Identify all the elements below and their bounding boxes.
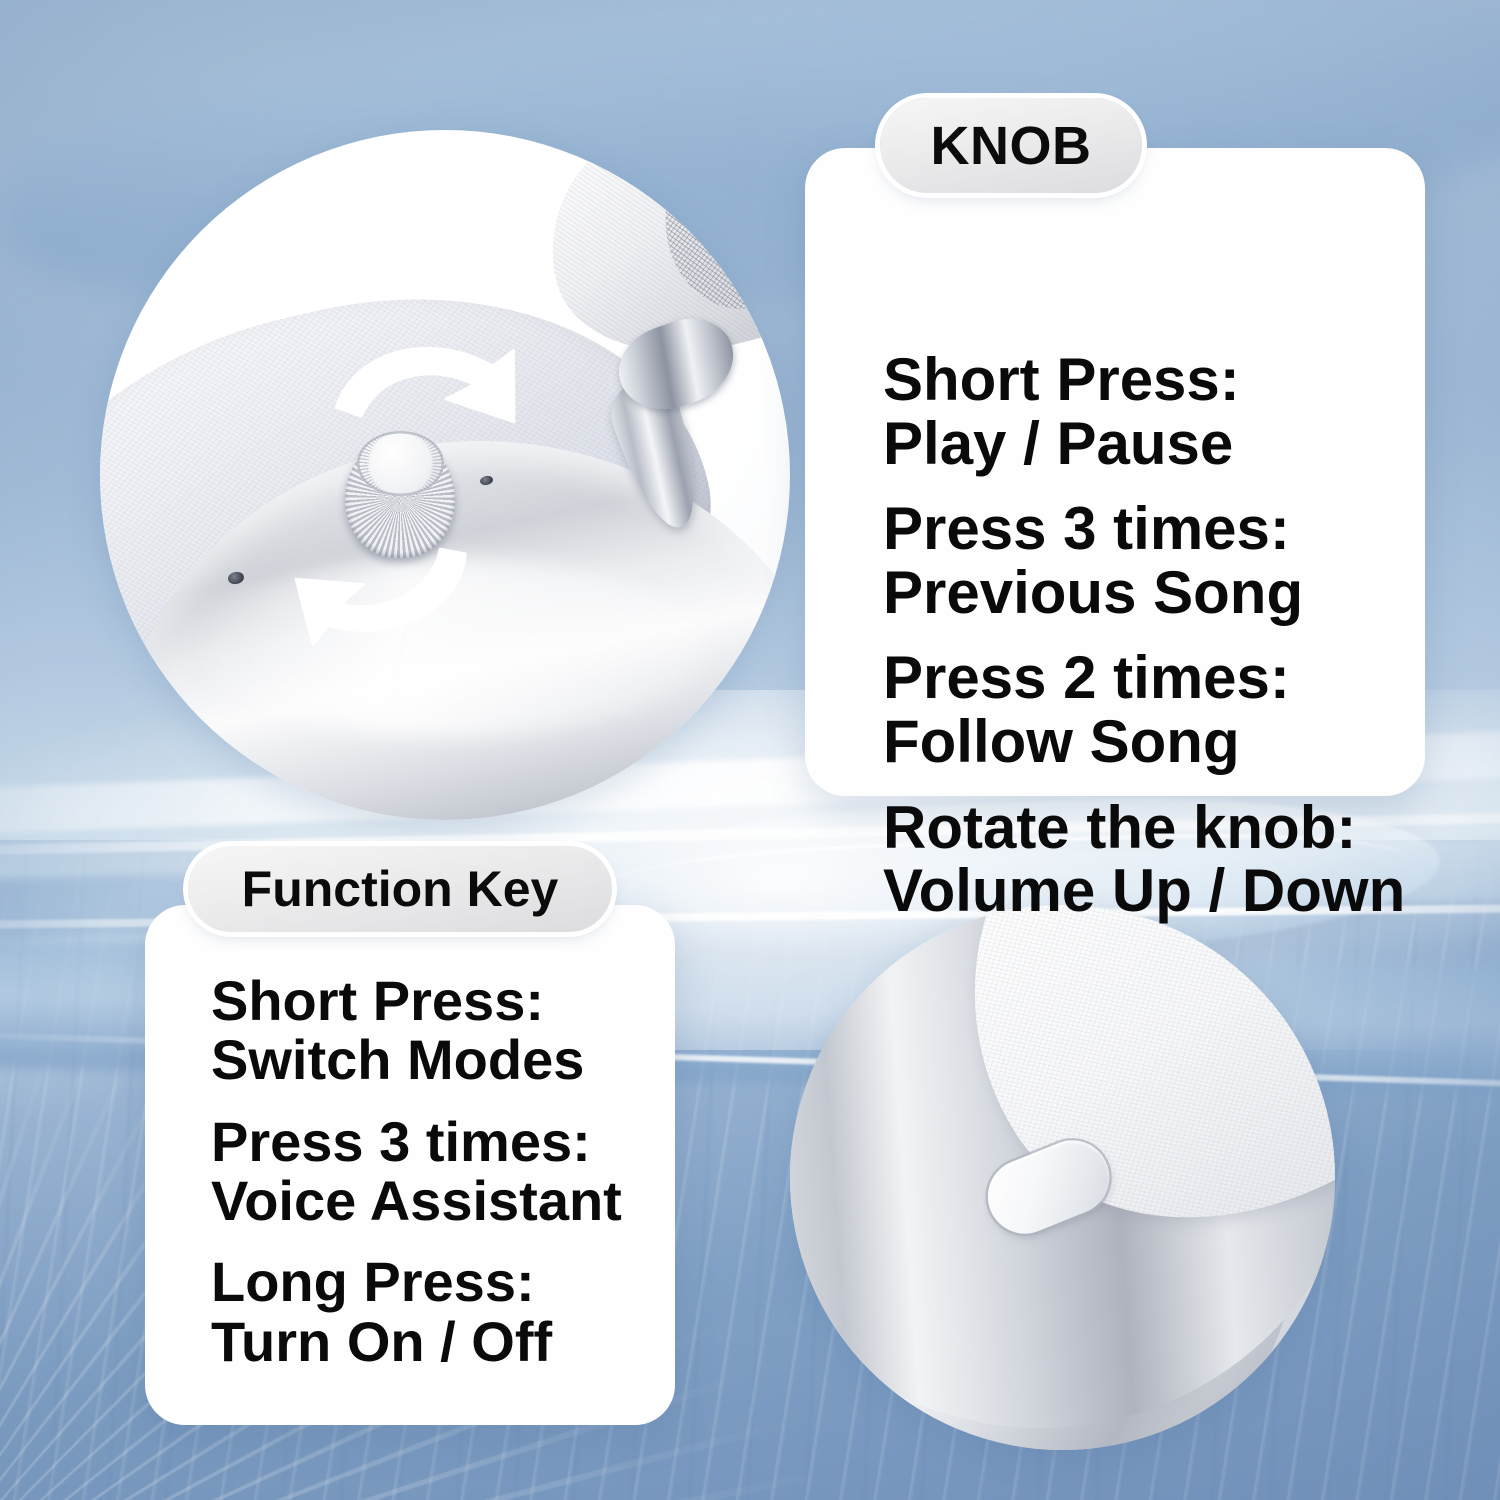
instruction-value: Follow Song xyxy=(883,710,1405,774)
instruction-label: Rotate the knob: xyxy=(883,796,1405,860)
function-key-photo xyxy=(790,905,1335,1450)
instruction-value: Previous Song xyxy=(883,561,1405,625)
instruction-label: Short Press: xyxy=(883,348,1405,412)
infographic-stage: Short Press: Play / Pause Press 3 times:… xyxy=(0,0,1500,1500)
instruction-value: Turn On / Off xyxy=(211,1312,622,1371)
function-key-instruction-list: Short Press: Switch Modes Press 3 times:… xyxy=(211,971,622,1371)
instruction-value: Volume Up / Down xyxy=(883,859,1405,923)
rotate-clockwise-arrow-icon xyxy=(321,323,583,461)
instruction-label: Short Press: xyxy=(211,971,622,1030)
function-key-badge: Function Key xyxy=(188,846,612,932)
instruction-value: Play / Pause xyxy=(883,412,1405,476)
list-item: Rotate the knob: Volume Up / Down xyxy=(883,796,1405,923)
knob-badge: KNOB xyxy=(880,98,1142,193)
list-item: Press 3 times: Previous Song xyxy=(883,497,1405,624)
knob-photo xyxy=(100,130,790,820)
list-item: Long Press: Turn On / Off xyxy=(211,1252,622,1371)
list-item: Short Press: Switch Modes xyxy=(211,971,622,1090)
list-item: Short Press: Play / Pause xyxy=(883,348,1405,475)
instruction-label: Press 2 times: xyxy=(883,646,1405,710)
list-item: Press 2 times: Follow Song xyxy=(883,646,1405,773)
instruction-value: Switch Modes xyxy=(211,1030,622,1089)
knob-instruction-list: Short Press: Play / Pause Press 3 times:… xyxy=(883,348,1405,923)
rotate-counterclockwise-arrow-icon xyxy=(238,530,486,654)
list-item: Press 3 times: Voice Assistant xyxy=(211,1112,622,1231)
instruction-value: Voice Assistant xyxy=(211,1171,622,1230)
instruction-label: Press 3 times: xyxy=(211,1112,622,1171)
function-key-info-card: Short Press: Switch Modes Press 3 times:… xyxy=(145,905,675,1425)
instruction-label: Long Press: xyxy=(211,1252,622,1311)
knob-info-card: Short Press: Play / Pause Press 3 times:… xyxy=(805,148,1425,796)
instruction-label: Press 3 times: xyxy=(883,497,1405,561)
